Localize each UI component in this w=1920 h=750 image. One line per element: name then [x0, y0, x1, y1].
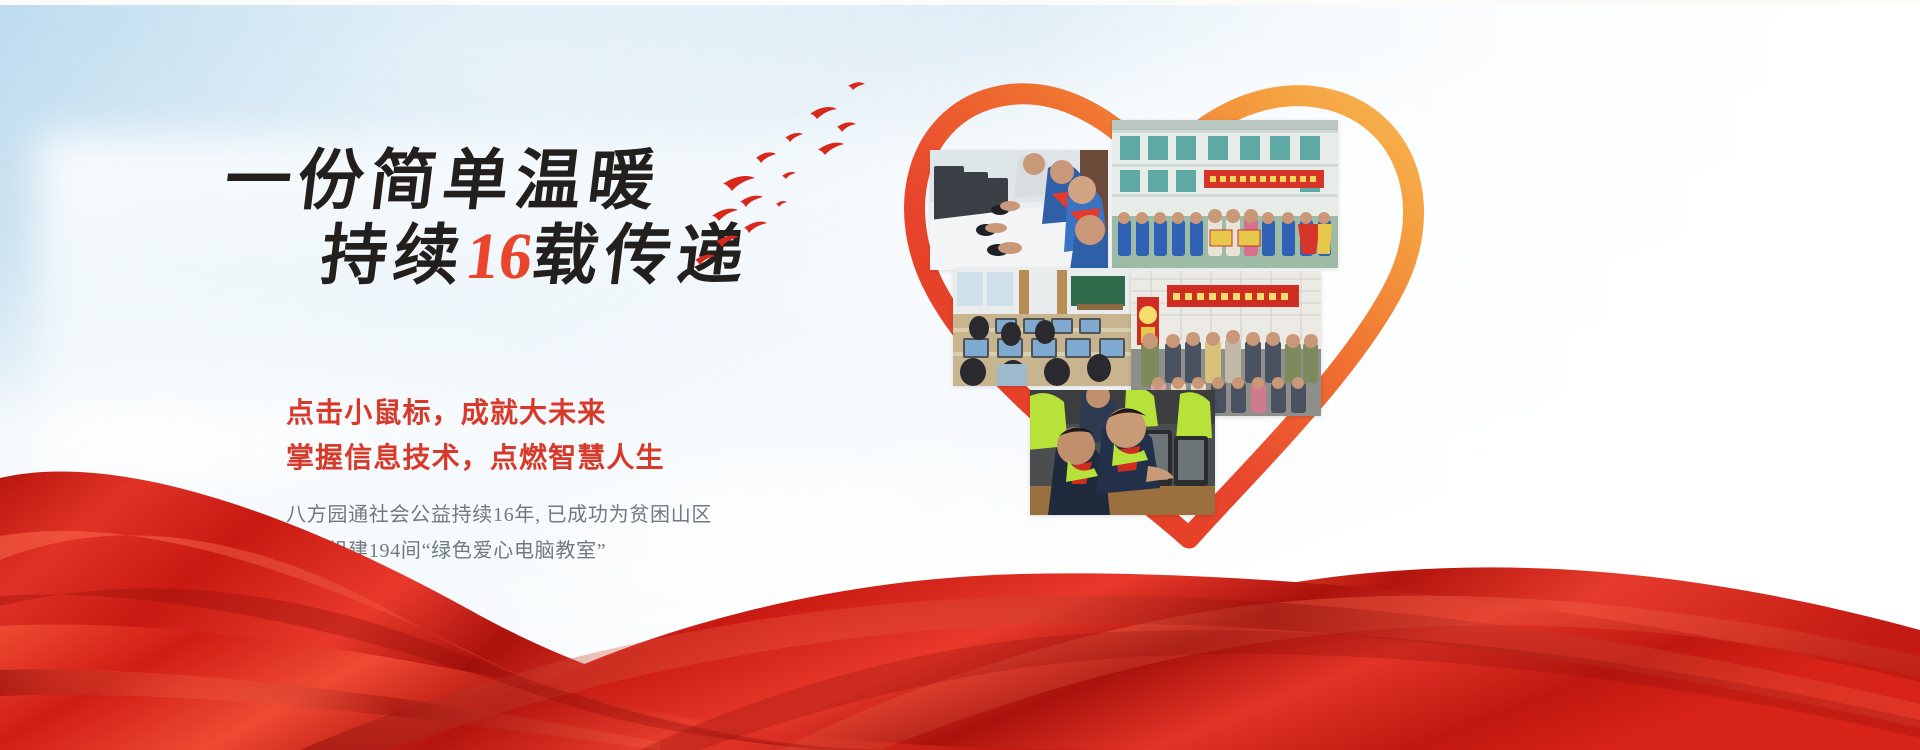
- photo-computer-lab-students-row: [930, 150, 1108, 270]
- photo-school-donation-ceremony-outdoor: [1112, 120, 1338, 268]
- headline-years-number: 16: [462, 220, 537, 293]
- photo-classroom-computer-room: [953, 268, 1131, 386]
- red-silk-ribbon-icon: [0, 420, 1920, 750]
- charity-banner: 一份简单温暖 持续16载传递 点击小鼠标，成就大未来 掌握信息技术，点燃智慧人生…: [0, 0, 1920, 750]
- headline-line-2-prefix: 持续: [317, 220, 471, 293]
